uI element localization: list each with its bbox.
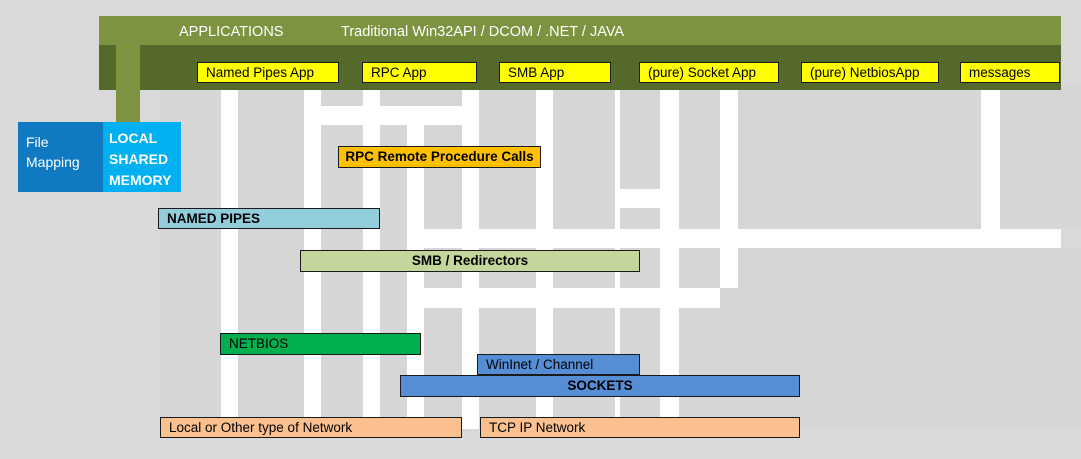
file-mapping-line-2: Mapping [26,152,103,172]
channel-block [679,84,720,229]
api-label: Traditional Win32API / DCOM / .NET / JAV… [341,25,624,40]
channel-block [679,248,720,288]
channel-block [620,84,660,189]
channel-block [829,84,981,229]
local-shared-memory-line-3: MEMORY [109,170,181,191]
applications-label: APPLICATIONS [179,25,283,40]
network-tcp-ip[interactable]: TCP IP Network [480,417,800,438]
channel-block [620,208,660,229]
channel-block [738,84,838,229]
app-box-netbios[interactable]: (pure) NetbiosApp [801,62,939,83]
app-box-socket[interactable]: (pure) Socket App [639,62,779,83]
app-box-named-pipes[interactable]: Named Pipes App [197,62,339,83]
diagram-canvas: APPLICATIONS Traditional Win32API / DCOM… [0,0,1081,459]
local-shared-memory-box: LOCAL SHARED MEMORY [103,122,181,192]
file-mapping-box: File Mapping [18,122,103,192]
app-box-rpc[interactable]: RPC App [362,62,477,83]
network-local-other[interactable]: Local or Other type of Network [160,417,462,438]
applications-stem [116,16,140,122]
file-mapping-line-1: File [26,132,103,152]
layer-sockets[interactable]: SOCKETS [400,375,800,397]
layer-netbios[interactable]: NETBIOS [220,333,421,355]
channel-block [738,248,838,288]
layer-rpc[interactable]: RPC Remote Procedure Calls [338,146,541,168]
app-box-smb[interactable]: SMB App [499,62,611,83]
local-shared-memory-line-1: LOCAL [109,128,181,149]
channel-block [720,288,1081,429]
layer-wininet-channel[interactable]: WinInet / Channel [477,354,640,375]
layer-named-pipes[interactable]: NAMED PIPES [158,208,380,229]
channel-block [424,125,462,229]
layer-smb-redirectors[interactable]: SMB / Redirectors [300,250,640,272]
channel-block [679,308,720,429]
channel-block [1000,84,1081,229]
local-shared-memory-line-2: SHARED [109,149,181,170]
channel-block [553,84,615,229]
channel-block [321,125,363,429]
channel-block [424,308,462,429]
app-box-messages[interactable]: messages [960,62,1060,83]
channel-block [238,84,304,429]
